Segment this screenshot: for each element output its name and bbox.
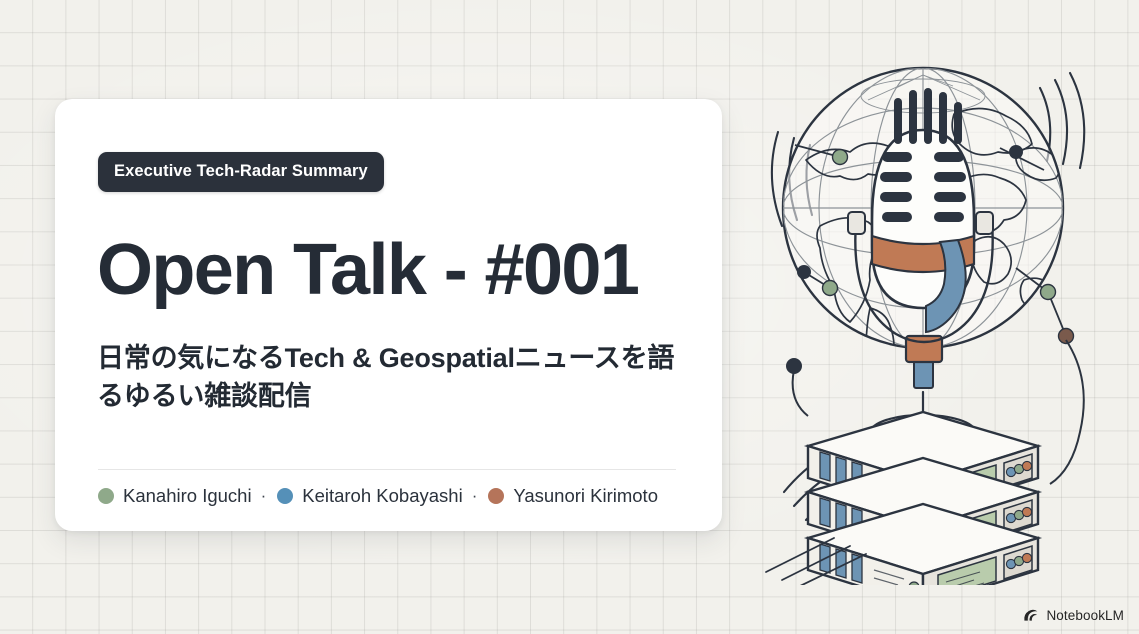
- author-color-dot: [488, 488, 504, 504]
- page-subtitle: 日常の気になるTech & Geospatialニュースを語るゆるい雑談配信: [97, 339, 687, 416]
- watermark-label: NotebookLM: [1046, 608, 1124, 623]
- notebooklm-watermark: NotebookLM: [1023, 608, 1124, 623]
- author-item: Yasunori Kirimoto: [488, 485, 658, 507]
- author-item: Keitaroh Kobayashi: [277, 485, 462, 507]
- cable-left: [787, 359, 808, 416]
- author-color-dot: [98, 488, 114, 504]
- author-separator: ·: [472, 486, 478, 506]
- page-title: Open Talk - #001: [97, 234, 638, 306]
- server-stack: [766, 412, 1038, 585]
- author-name: Keitaroh Kobayashi: [302, 485, 462, 507]
- author-separator: ·: [261, 486, 267, 506]
- author-name: Kanahiro Iguchi: [123, 485, 252, 507]
- slide-canvas: Executive Tech-Radar Summary Open Talk -…: [0, 0, 1139, 634]
- author-name: Yasunori Kirimoto: [513, 485, 658, 507]
- cable: [1050, 340, 1084, 484]
- author-list: Kanahiro Iguchi · Keitaroh Kobayashi · Y…: [98, 485, 658, 507]
- status-badge: Executive Tech-Radar Summary: [98, 152, 384, 192]
- divider: [98, 469, 676, 470]
- globe-microphone-server-illustration: [748, 40, 1108, 585]
- notebooklm-logo-icon: [1023, 608, 1040, 623]
- author-item: Kanahiro Iguchi: [98, 485, 252, 507]
- author-color-dot: [277, 488, 293, 504]
